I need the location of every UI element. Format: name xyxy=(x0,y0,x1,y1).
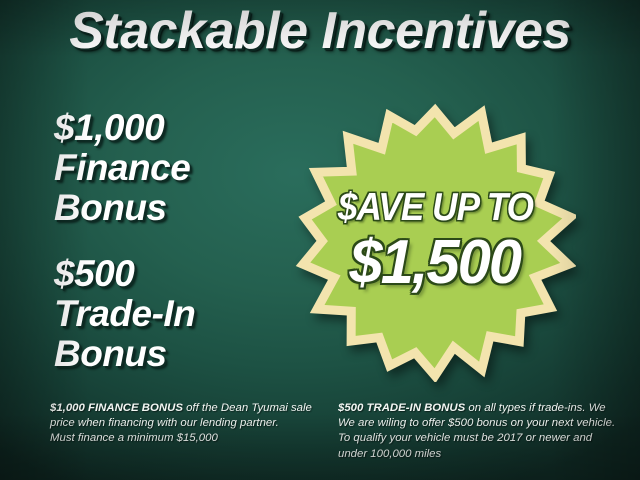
fine-print-tradein-lead: $500 TRADE-IN BONUS xyxy=(338,402,465,414)
fine-print-tradein-line-1-rest: on all types if trade-ins. We xyxy=(465,402,605,414)
fine-print-tradein-line-4: under 100,000 miles xyxy=(338,447,608,462)
fine-print-row: $1,000 FINANCE BONUS off the Dean Tyиmai… xyxy=(50,401,610,462)
fine-print-finance-column: $1,000 FINANCE BONUS off the Dean Tyиmai… xyxy=(50,401,320,462)
offer-tradein-label-1: Trade-In xyxy=(54,294,294,334)
savings-starburst-badge: $AVE UP TO $1,500 xyxy=(294,100,576,382)
offer-tradein-label-2: Bonus xyxy=(54,334,294,374)
fine-print-finance-line-1-rest: off the Dean Tyиmai sale xyxy=(183,402,312,414)
fine-print-finance-line-1: $1,000 FINANCE BONUS off the Dean Tyиmai… xyxy=(50,401,320,416)
offer-finance-bonus: $1,000 Finance Bonus xyxy=(54,108,294,228)
fine-print-finance-line-2: price when financing with our lending pa… xyxy=(50,416,320,431)
fine-print-tradein-line-2: We are wiling to offer $500 bonus on you… xyxy=(338,416,608,431)
offer-list: $1,000 Finance Bonus $500 Trade-In Bonus xyxy=(54,108,294,400)
offer-tradein-amount: $500 xyxy=(54,254,294,294)
offer-finance-label-1: Finance xyxy=(54,148,294,188)
offer-finance-amount: $1,000 xyxy=(54,108,294,148)
page-title: Stackable Incentives xyxy=(0,2,640,60)
fine-print-finance-lead: $1,000 FINANCE BONUS xyxy=(50,402,183,414)
fine-print-tradein-column: $500 TRADE-IN BONUS on all types if trad… xyxy=(338,401,608,462)
fine-print-finance-line-3: Must finance a minimum $15,000 xyxy=(50,431,320,446)
offer-trade-in-bonus: $500 Trade-In Bonus xyxy=(54,254,294,374)
offer-finance-label-2: Bonus xyxy=(54,188,294,228)
fine-print-tradein-line-1: $500 TRADE-IN BONUS on all types if trad… xyxy=(338,401,608,416)
starburst-shape-icon xyxy=(294,100,576,382)
fine-print-tradein-line-3: To qualify your vehicle must be 2017 or … xyxy=(338,431,608,446)
stackable-incentives-ad-banner: Stackable Incentives $1,000 Finance Bonu… xyxy=(0,0,640,480)
